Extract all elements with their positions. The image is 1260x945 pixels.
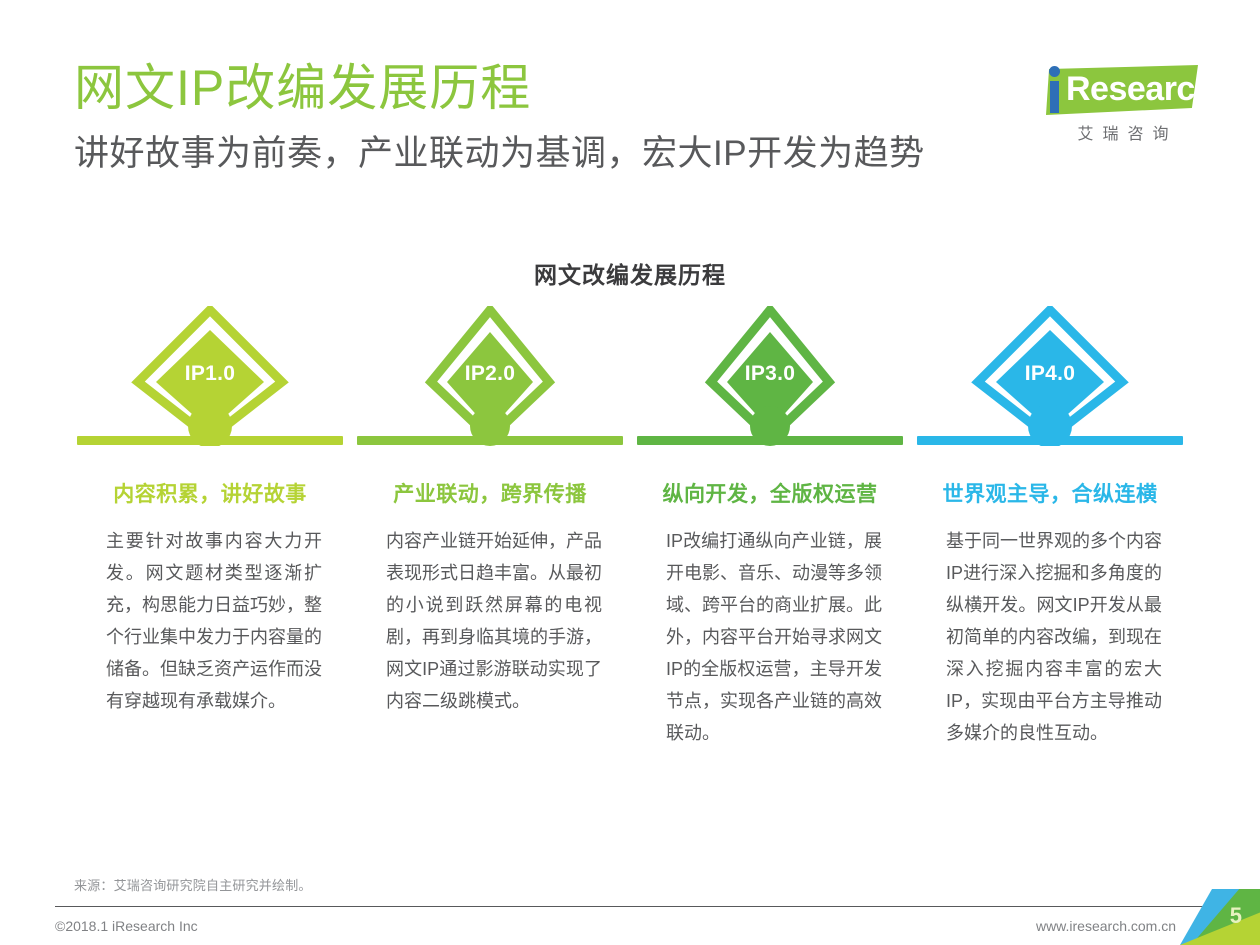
logo-chinese-name: 艾瑞咨询 — [1048, 120, 1198, 144]
stage-baseline-1 — [77, 436, 343, 445]
stage-heading-3: 纵向开发，全版权运营 — [636, 478, 904, 508]
stage-heading-2: 产业联动，跨界传播 — [356, 478, 624, 508]
page-number: 5 — [1230, 903, 1242, 929]
stage-column-2: IP2.0 产业联动，跨界传播 内容产业链开始延伸，产品表现形式日趋丰富。从最初… — [350, 306, 630, 749]
footer-copyright: ©2018.1 iResearch Inc — [55, 918, 198, 934]
stage-body-1: 主要针对故事内容大力开发。网文题材类型逐渐扩充，构思能力日益巧妙，整个行业集中发… — [76, 525, 344, 717]
iresearch-logo: Research 艾瑞咨询 — [1018, 62, 1198, 146]
stage-baseline-2 — [357, 436, 623, 445]
logo-wordmark: Research — [1066, 68, 1215, 110]
slide-root: 网文IP改编发展历程 讲好故事为前奏，产业联动为基调，宏大IP开发为趋势 Res… — [0, 0, 1260, 945]
chart-title: 网文改编发展历程 — [0, 256, 1260, 290]
stage-baseline-3 — [637, 436, 903, 445]
stage-badge-1: IP1.0 — [76, 306, 344, 452]
stage-heading-1: 内容积累，讲好故事 — [76, 478, 344, 508]
footer-website: www.iresearch.com.cn — [1036, 918, 1176, 934]
stage-body-2: 内容产业链开始延伸，产品表现形式日趋丰富。从最初的小说到跃然屏幕的电视剧，再到身… — [356, 525, 624, 717]
stage-badge-label-1: IP1.0 — [76, 362, 344, 386]
stage-column-4: IP4.0 世界观主导，合纵连横 基于同一世界观的多个内容IP进行深入挖掘和多角… — [910, 306, 1190, 749]
page-corner-decoration: 5 — [1180, 889, 1260, 945]
stage-badge-3: IP3.0 — [636, 306, 904, 452]
logo-mark: Research — [1018, 62, 1198, 116]
stage-body-3: IP改编打通纵向产业链，展开电影、音乐、动漫等多领域、跨平台的商业扩展。此外，内… — [636, 525, 904, 749]
stage-heading-4: 世界观主导，合纵连横 — [916, 478, 1184, 508]
stage-badge-label-2: IP2.0 — [356, 362, 624, 386]
stage-column-1: IP1.0 内容积累，讲好故事 主要针对故事内容大力开发。网文题材类型逐渐扩充，… — [70, 306, 350, 749]
stage-badge-4: IP4.0 — [916, 306, 1184, 452]
stage-badge-label-4: IP4.0 — [916, 362, 1184, 386]
stage-body-4: 基于同一世界观的多个内容IP进行深入挖掘和多角度的纵横开发。网文IP开发从最初简… — [916, 525, 1184, 749]
stage-badge-label-3: IP3.0 — [636, 362, 904, 386]
stage-badge-2: IP2.0 — [356, 306, 624, 452]
source-note: 来源：艾瑞咨询研究院自主研究并绘制。 — [74, 875, 312, 894]
stage-column-3: IP3.0 纵向开发，全版权运营 IP改编打通纵向产业链，展开电影、音乐、动漫等… — [630, 306, 910, 749]
logo-i-dot-icon — [1049, 66, 1060, 77]
footer-divider — [55, 906, 1205, 907]
stage-columns: IP1.0 内容积累，讲好故事 主要针对故事内容大力开发。网文题材类型逐渐扩充，… — [70, 306, 1190, 749]
logo-i-stem-icon — [1050, 81, 1059, 113]
stage-baseline-4 — [917, 436, 1183, 445]
